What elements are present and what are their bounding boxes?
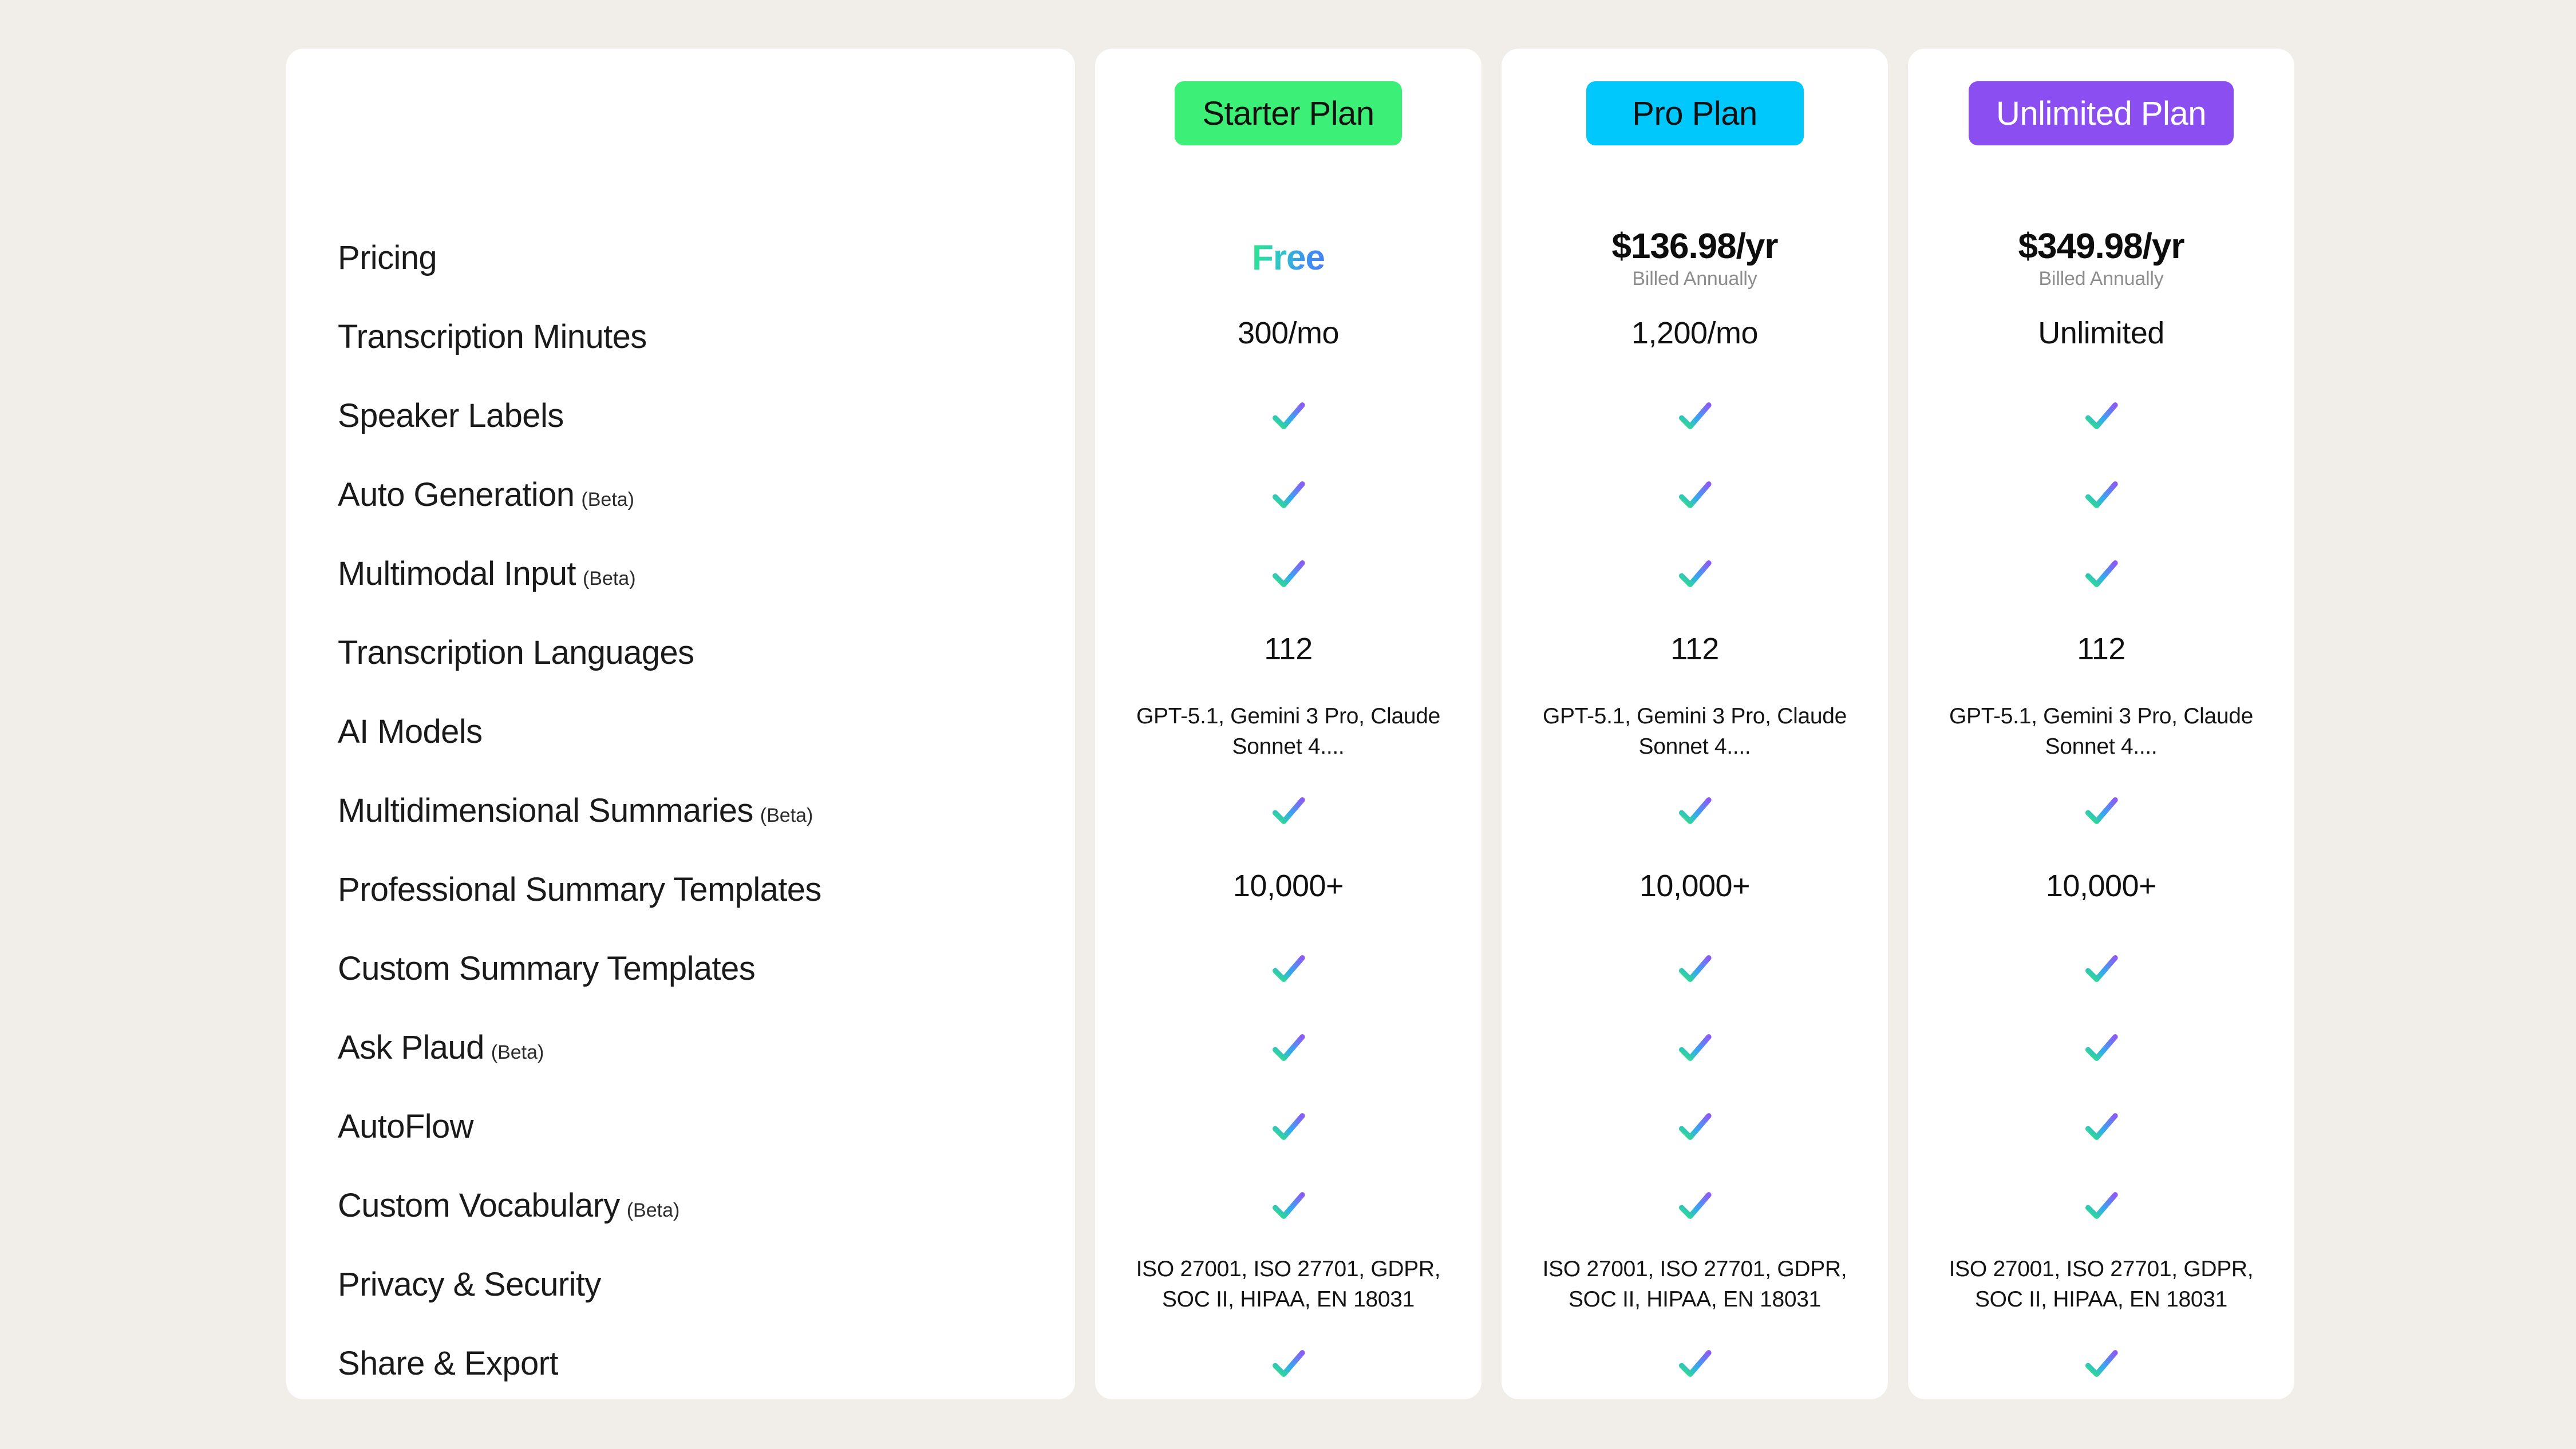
check-icon [2081, 474, 2122, 516]
feature-row: Transcription Minutes [338, 298, 1075, 377]
feature-label: Multimodal Input(Beta) [338, 557, 636, 591]
plan-value-row: 1,200/mo [1502, 298, 1888, 377]
plan-value-row: Free [1095, 219, 1481, 298]
feature-row: AutoFlow [338, 1087, 1075, 1166]
check-icon [2081, 1343, 2122, 1384]
plan-value-detail: ISO 27001, ISO 27701, GDPR, SOC II, HIPA… [1935, 1254, 2267, 1315]
plan-value-row: ISO 27001, ISO 27701, GDPR, SOC II, HIPA… [1908, 1245, 2294, 1324]
plan-value-row [1908, 1087, 2294, 1166]
feature-row: Privacy & Security [338, 1245, 1075, 1324]
plan-value-row [1095, 456, 1481, 535]
feature-label: Auto Generation(Beta) [338, 478, 634, 512]
plan-value-row: GPT-5.1, Gemini 3 Pro, Claude Sonnet 4..… [1908, 692, 2294, 771]
feature-row: Auto Generation(Beta) [338, 456, 1075, 535]
check-icon [2081, 948, 2122, 989]
plan-value-detail: GPT-5.1, Gemini 3 Pro, Claude Sonnet 4..… [1529, 702, 1861, 762]
feature-row: Ask Plaud(Beta) [338, 1008, 1075, 1087]
plan-value-detail: GPT-5.1, Gemini 3 Pro, Claude Sonnet 4..… [1123, 702, 1455, 762]
plan-value-row: 112 [1095, 613, 1481, 692]
check-icon [1268, 553, 1309, 595]
feature-row: AI Models [338, 692, 1075, 771]
plan-value-row [1908, 1324, 2294, 1403]
plan-value-row [1095, 771, 1481, 850]
feature-label: Multidimensional Summaries(Beta) [338, 794, 813, 828]
check-icon [1674, 1027, 1716, 1068]
beta-tag: (Beta) [491, 1042, 544, 1063]
feature-label: Transcription Languages [338, 636, 694, 670]
plan-value-row [1095, 535, 1481, 613]
check-icon [2081, 1106, 2122, 1147]
plan-values-unlimited: $349.98/yrBilled AnnuallyUnlimited112GPT… [1908, 49, 2294, 1403]
plan-value-row [1908, 377, 2294, 456]
feature-rows: PricingTranscription MinutesSpeaker Labe… [286, 49, 1075, 1403]
plan-value-row: ISO 27001, ISO 27701, GDPR, SOC II, HIPA… [1502, 1245, 1888, 1324]
feature-label: AI Models [338, 715, 483, 749]
plan-value-row: GPT-5.1, Gemini 3 Pro, Claude Sonnet 4..… [1095, 692, 1481, 771]
plan-value-row: 112 [1908, 613, 2294, 692]
feature-row: Speaker Labels [338, 377, 1075, 456]
check-icon [1268, 1027, 1309, 1068]
plan-value-row [1502, 771, 1888, 850]
check-icon [1268, 948, 1309, 989]
plan-value: 10,000+ [1639, 870, 1750, 902]
plan-value-row [1908, 456, 2294, 535]
check-icon [2081, 790, 2122, 832]
plan-value-row [1908, 1008, 2294, 1087]
check-icon [1268, 395, 1309, 437]
plan-price-subtext: Billed Annually [1632, 269, 1757, 288]
plan-card-unlimited[interactable]: Unlimited Plan $349.98/yrBilled Annually… [1908, 49, 2294, 1399]
plan-value-row: 112 [1502, 613, 1888, 692]
plan-value-row [1095, 1087, 1481, 1166]
plan-value-row [1502, 929, 1888, 1008]
plan-value-row [1908, 535, 2294, 613]
feature-row: Multidimensional Summaries(Beta) [338, 771, 1075, 850]
feature-row: Transcription Languages [338, 613, 1075, 692]
plan-value-detail: GPT-5.1, Gemini 3 Pro, Claude Sonnet 4..… [1935, 702, 2267, 762]
feature-label: Custom Vocabulary(Beta) [338, 1189, 679, 1222]
feature-row: Professional Summary Templates [338, 850, 1075, 929]
plan-value-row [1095, 1324, 1481, 1403]
feature-row: Custom Vocabulary(Beta) [338, 1166, 1075, 1245]
plan-value-row: 300/mo [1095, 298, 1481, 377]
feature-row: Custom Summary Templates [338, 929, 1075, 1008]
feature-label: Transcription Minutes [338, 320, 647, 354]
check-icon [1268, 1106, 1309, 1147]
plan-value-row: $136.98/yrBilled Annually [1502, 219, 1888, 298]
plan-value-row: 10,000+ [1502, 850, 1888, 929]
check-icon [1268, 1343, 1309, 1384]
check-icon [1268, 790, 1309, 832]
plan-value-row [1095, 1008, 1481, 1087]
plan-value: 10,000+ [2046, 870, 2156, 902]
feature-label: Professional Summary Templates [338, 873, 821, 906]
beta-tag: (Beta) [581, 489, 634, 510]
check-icon [2081, 1185, 2122, 1226]
check-icon [1674, 1106, 1716, 1147]
plan-value-row [1095, 377, 1481, 456]
plan-value-row: Unlimited [1908, 298, 2294, 377]
check-icon [1674, 1185, 1716, 1226]
plan-price: $349.98/yr [2018, 228, 2184, 265]
plan-value-row: GPT-5.1, Gemini 3 Pro, Claude Sonnet 4..… [1502, 692, 1888, 771]
plan-card-starter[interactable]: Starter Plan Free300/mo112GPT-5.1, Gemin… [1095, 49, 1481, 1399]
feature-row: Share & Export [338, 1324, 1075, 1403]
pricing-table: PricingTranscription MinutesSpeaker Labe… [286, 49, 2290, 1399]
feature-label: Privacy & Security [338, 1268, 601, 1301]
plan-value-row: $349.98/yrBilled Annually [1908, 219, 2294, 298]
feature-row: Multimodal Input(Beta) [338, 535, 1075, 613]
plan-value-row [1502, 1087, 1888, 1166]
check-icon [2081, 553, 2122, 595]
feature-label: AutoFlow [338, 1110, 473, 1143]
plan-value-detail: ISO 27001, ISO 27701, GDPR, SOC II, HIPA… [1123, 1254, 1455, 1315]
plan-value-row [1502, 535, 1888, 613]
plan-value: 300/mo [1238, 317, 1339, 350]
check-icon [2081, 395, 2122, 437]
feature-label: Share & Export [338, 1347, 558, 1380]
plan-value-row: ISO 27001, ISO 27701, GDPR, SOC II, HIPA… [1095, 1245, 1481, 1324]
feature-row: Pricing [338, 219, 1075, 298]
check-icon [1268, 474, 1309, 516]
plan-value-row [1502, 377, 1888, 456]
plan-value-row [1502, 456, 1888, 535]
check-icon [1674, 474, 1716, 516]
plan-value-row [1908, 771, 2294, 850]
check-icon [1674, 1343, 1716, 1384]
pricing-comparison-page: PricingTranscription MinutesSpeaker Labe… [0, 0, 2576, 1449]
plan-value: 112 [1264, 633, 1313, 666]
plan-value-row [1095, 1166, 1481, 1245]
beta-tag: (Beta) [583, 568, 636, 589]
check-icon [1268, 1185, 1309, 1226]
beta-tag: (Beta) [760, 805, 813, 826]
plan-price-subtext: Billed Annually [2038, 269, 2163, 288]
plan-card-pro[interactable]: Pro Plan $136.98/yrBilled Annually1,200/… [1502, 49, 1888, 1399]
feature-list-card: PricingTranscription MinutesSpeaker Labe… [286, 49, 1075, 1399]
plan-price: $136.98/yr [1612, 228, 1778, 265]
plan-value: Unlimited [2038, 317, 2164, 350]
check-icon [1674, 553, 1716, 595]
plan-value-row: 10,000+ [1095, 850, 1481, 929]
plan-values-starter: Free300/mo112GPT-5.1, Gemini 3 Pro, Clau… [1095, 49, 1481, 1403]
check-icon [1674, 395, 1716, 437]
feature-label: Ask Plaud(Beta) [338, 1031, 544, 1064]
plan-value-row [1502, 1324, 1888, 1403]
beta-tag: (Beta) [627, 1199, 680, 1221]
check-icon [1674, 790, 1716, 832]
plan-value: 112 [1670, 633, 1719, 666]
feature-label: Speaker Labels [338, 399, 564, 433]
plan-value: 1,200/mo [1631, 317, 1758, 350]
plan-value-row [1502, 1008, 1888, 1087]
plan-value-row [1908, 1166, 2294, 1245]
check-icon [1674, 948, 1716, 989]
feature-label: Pricing [338, 241, 437, 275]
plan-value-row [1502, 1166, 1888, 1245]
feature-label: Custom Summary Templates [338, 952, 755, 985]
check-icon [2081, 1027, 2122, 1068]
plan-value-row [1095, 929, 1481, 1008]
plan-values-pro: $136.98/yrBilled Annually1,200/mo112GPT-… [1502, 49, 1888, 1403]
plan-value: 112 [2077, 633, 2125, 666]
plan-value-detail: ISO 27001, ISO 27701, GDPR, SOC II, HIPA… [1529, 1254, 1861, 1315]
plan-value: 10,000+ [1233, 870, 1344, 902]
plan-value-row [1908, 929, 2294, 1008]
plan-price-free: Free [1252, 239, 1325, 276]
plan-value-row: 10,000+ [1908, 850, 2294, 929]
